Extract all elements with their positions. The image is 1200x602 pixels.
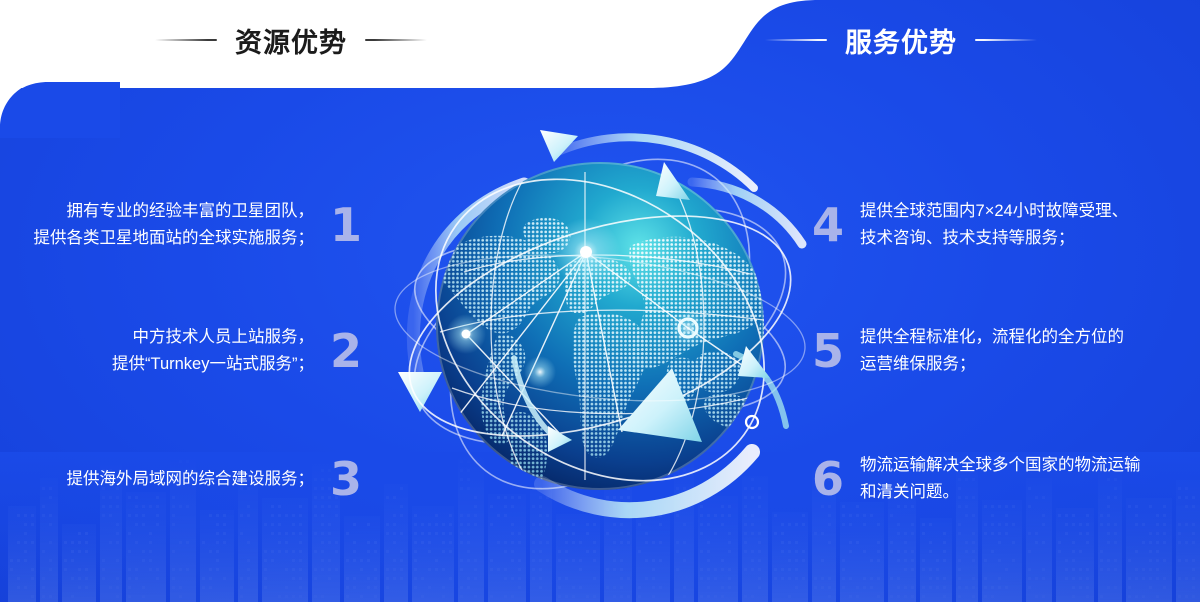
list-item[interactable]: 5 提供全程标准化，流程化的全方位的 运营维保服务；	[812, 312, 1182, 390]
list-item[interactable]: 提供海外局域网的综合建设服务； 3	[0, 440, 370, 518]
advantages-right-list: 4 提供全球范围内7×24小时故障受理、 技术咨询、技术支持等服务； 5 提供全…	[812, 186, 1182, 518]
advantages-left-list: 拥有专业的经验丰富的卫星团队， 提供各类卫星地面站的全球实施服务； 1 中方技术…	[0, 186, 370, 518]
list-item-number: 2	[330, 328, 362, 374]
list-item-text: 提供全球范围内7×24小时故障受理、 技术咨询、技术支持等服务；	[860, 198, 1128, 251]
list-item-number: 3	[330, 456, 362, 502]
list-item-line: 提供全球范围内7×24小时故障受理、	[860, 198, 1128, 225]
header-left: 资源优势	[155, 20, 427, 60]
list-item-line: 物流运输解决全球多个国家的物流运输	[860, 452, 1141, 479]
page-title-left: 资源优势	[235, 21, 347, 60]
list-item-line: 提供各类卫星地面站的全球实施服务；	[33, 225, 314, 252]
list-item-text: 拥有专业的经验丰富的卫星团队， 提供各类卫星地面站的全球实施服务；	[33, 198, 314, 251]
list-item-line: 和清关问题。	[860, 479, 1141, 506]
list-item-number: 1	[330, 202, 362, 248]
header-rule-right-icon-2	[975, 39, 1037, 41]
list-item-line: 运营维保服务；	[860, 351, 1124, 378]
list-item[interactable]: 6 物流运输解决全球多个国家的物流运输 和清关问题。	[812, 440, 1182, 518]
page-title-right: 服务优势	[845, 21, 957, 60]
list-item-text: 物流运输解决全球多个国家的物流运输 和清关问题。	[860, 452, 1141, 505]
list-item-number: 5	[812, 328, 844, 374]
header-rule-left-icon	[155, 39, 217, 41]
list-item-line: 拥有专业的经验丰富的卫星团队，	[33, 198, 314, 225]
list-item[interactable]: 4 提供全球范围内7×24小时故障受理、 技术咨询、技术支持等服务；	[812, 186, 1182, 264]
list-item-number: 4	[812, 202, 844, 248]
list-item-number: 6	[812, 456, 844, 502]
slide-root: 资源优势 服务优势 拥有专业的经验丰富的卫星团队， 提供各类卫星地面站的全球实施…	[0, 0, 1200, 602]
globe-network-illustration	[372, 96, 828, 552]
list-item[interactable]: 中方技术人员上站服务， 提供“Turnkey一站式服务”； 2	[0, 312, 370, 390]
list-item-line: 技术咨询、技术支持等服务；	[860, 225, 1128, 252]
list-item-line: 中方技术人员上站服务，	[112, 324, 314, 351]
header-right: 服务优势	[765, 20, 1037, 60]
list-item-text: 提供全程标准化，流程化的全方位的 运营维保服务；	[860, 324, 1124, 377]
header-rule-right-icon	[365, 39, 427, 41]
list-item-line: 提供“Turnkey一站式服务”；	[112, 351, 314, 378]
list-item-text: 中方技术人员上站服务， 提供“Turnkey一站式服务”；	[112, 324, 314, 377]
list-item-line: 提供全程标准化，流程化的全方位的	[860, 324, 1124, 351]
header-rule-left-icon-2	[765, 39, 827, 41]
list-item-line: 提供海外局域网的综合建设服务；	[66, 466, 314, 493]
list-item[interactable]: 拥有专业的经验丰富的卫星团队， 提供各类卫星地面站的全球实施服务； 1	[0, 186, 370, 264]
list-item-text: 提供海外局域网的综合建设服务；	[66, 466, 314, 493]
blue-corner-notch	[0, 78, 120, 138]
